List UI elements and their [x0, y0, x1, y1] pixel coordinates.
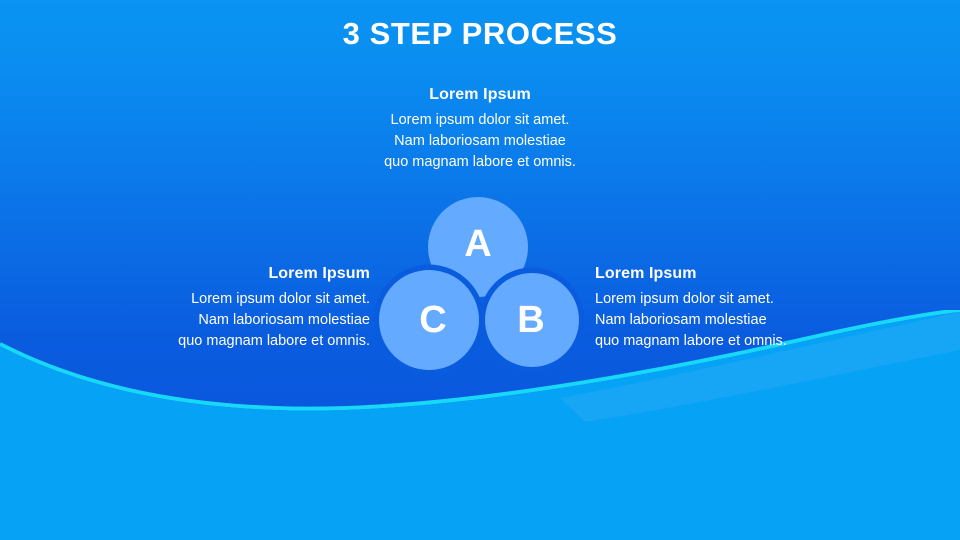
step-body-line: Nam laboriosam molestiae	[60, 310, 370, 331]
circle-label-b: B	[501, 301, 561, 339]
circle-label-c: C	[403, 301, 463, 339]
step-body-line: Nam laboriosam molestiae	[330, 131, 630, 152]
step-body-line: Lorem ipsum dolor sit amet.	[60, 289, 370, 310]
step-heading-a: Lorem Ipsum	[330, 85, 630, 105]
step-text-block-a: Lorem Ipsum Lorem ipsum dolor sit amet. …	[330, 85, 630, 173]
step-heading-b: Lorem Ipsum	[595, 264, 905, 284]
step-text-block-c: Lorem Ipsum Lorem ipsum dolor sit amet. …	[60, 264, 370, 352]
step-heading-c: Lorem Ipsum	[60, 264, 370, 284]
step-body-line: quo magnam labore et omnis.	[330, 152, 630, 173]
step-body-c: Lorem ipsum dolor sit amet. Nam laborios…	[60, 289, 370, 352]
step-body-line: Lorem ipsum dolor sit amet.	[330, 110, 630, 131]
step-body-b: Lorem ipsum dolor sit amet. Nam laborios…	[595, 289, 905, 352]
page-title: 3 STEP PROCESS	[0, 14, 960, 54]
slide-canvas: 3 STEP PROCESS Lorem Ipsum Lorem ipsum d…	[0, 0, 960, 540]
three-circle-venn-diagram	[375, 192, 585, 374]
step-body-a: Lorem ipsum dolor sit amet. Nam laborios…	[330, 110, 630, 173]
step-body-line: Lorem ipsum dolor sit amet.	[595, 289, 905, 310]
circle-label-a: A	[448, 225, 508, 263]
step-body-line: quo magnam labore et omnis.	[60, 331, 370, 352]
step-body-line: Nam laboriosam molestiae	[595, 310, 905, 331]
step-text-block-b: Lorem Ipsum Lorem ipsum dolor sit amet. …	[595, 264, 905, 352]
step-body-line: quo magnam labore et omnis.	[595, 331, 905, 352]
